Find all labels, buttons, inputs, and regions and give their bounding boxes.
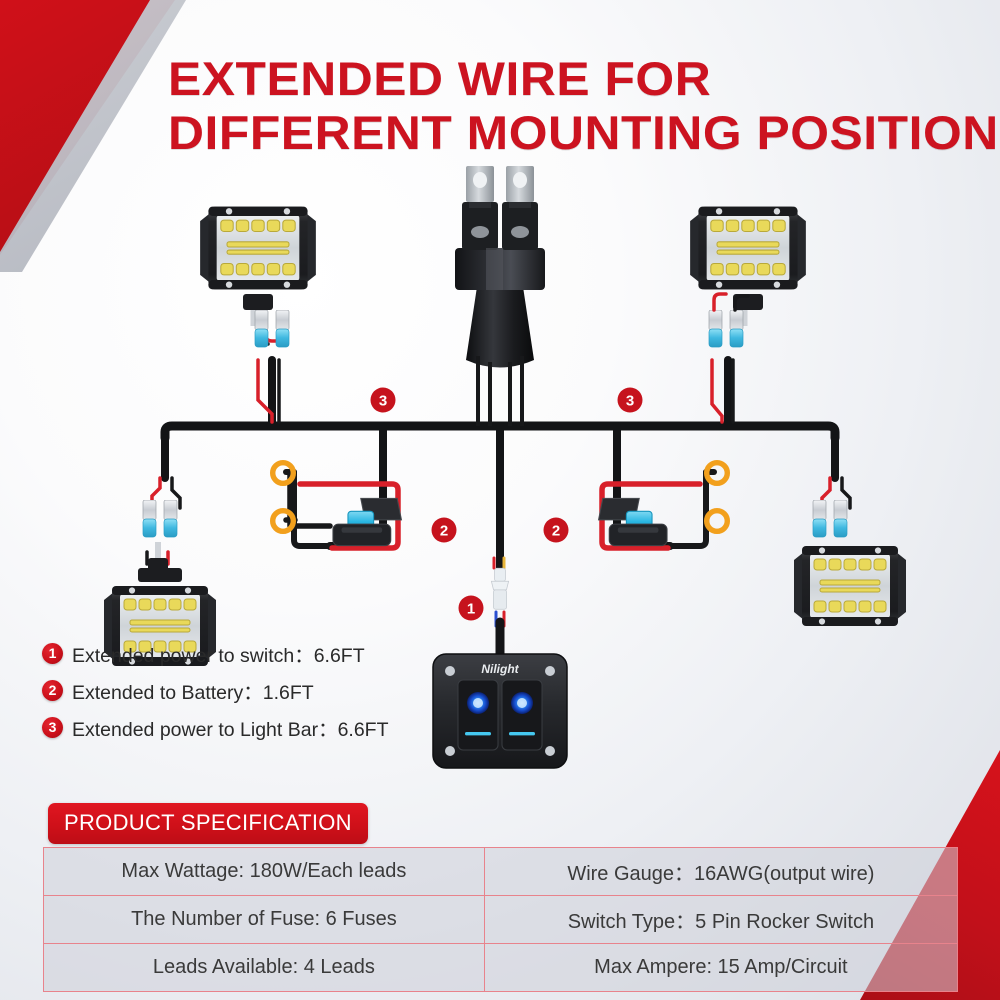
harness-trunk	[466, 280, 534, 368]
svg-text:3: 3	[626, 393, 634, 410]
product-specification-table: Max Wattage: 180W/Each leads Wire Gauge：…	[43, 847, 958, 992]
svg-text:3: 3	[379, 393, 387, 410]
callout-1-switch-lead: 1	[459, 596, 484, 621]
waterproof-connector	[491, 568, 508, 609]
spec-cell-switch-type: Switch Type：5 Pin Rocker Switch	[484, 896, 957, 944]
callout-2-battery-right: 2	[544, 518, 569, 543]
callout-3-lightbar-left: 3	[371, 388, 396, 413]
product-specification-title: PRODUCT SPECIFICATION	[48, 803, 368, 844]
blue-spade-connector-top-right	[709, 310, 743, 347]
dual-relay-block	[455, 166, 545, 290]
page-title-line-2: DIFFERENT MOUNTING POSITION	[168, 106, 1000, 160]
spec-row-1: Max Wattage: 180W/Each leads Wire Gauge：…	[44, 848, 958, 896]
svg-text:1: 1	[467, 601, 475, 618]
spec-cell-max-wattage: Max Wattage: 180W/Each leads	[44, 848, 485, 896]
svg-text:2: 2	[440, 523, 448, 540]
page-title-line-1: EXTENDED WIRE FOR	[168, 52, 1000, 106]
spec-row-3: Leads Available: 4 Leads Max Ampere: 15 …	[44, 944, 958, 992]
page-title: EXTENDED WIRE FOR DIFFERENT MOUNTING POS…	[168, 52, 1000, 160]
legend-label-2: Extended to Battery：1.6FT	[72, 676, 314, 705]
led-light-pod-top-right	[690, 207, 806, 326]
legend-item-1: 1 Extended power to switch：6.6FT	[42, 640, 472, 666]
ring-terminal-right-positive	[707, 511, 728, 532]
infographic-page: EXTENDED WIRE FOR DIFFERENT MOUNTING POS…	[0, 0, 1000, 1000]
inline-fuse-holder-right	[599, 498, 667, 545]
led-light-pod-top-left	[200, 207, 316, 326]
legend-badge-2: 2	[42, 680, 63, 701]
callout-3-lightbar-right: 3	[618, 388, 643, 413]
spec-cell-fuse-count: The Number of Fuse: 6 Fuses	[44, 896, 485, 944]
callout-2-battery-left: 2	[432, 518, 457, 543]
blue-spade-connector-bottom-left	[143, 500, 177, 537]
blue-spade-connector-bottom-right	[813, 500, 847, 537]
spec-row-2: The Number of Fuse: 6 Fuses Switch Type：…	[44, 896, 958, 944]
legend-item-2: 2 Extended to Battery：1.6FT	[42, 677, 472, 703]
spec-cell-max-ampere: Max Ampere: 15 Amp/Circuit	[484, 944, 957, 992]
legend-badge-1: 1	[42, 643, 63, 664]
spec-cell-wire-gauge: Wire Gauge：16AWG(output wire)	[484, 848, 957, 896]
legend-label-1: Extended power to switch：6.6FT	[72, 639, 365, 668]
legend-label-3: Extended power to Light Bar：6.6FT	[72, 713, 389, 742]
legend-list: 1 Extended power to switch：6.6FT 2 Exten…	[42, 640, 472, 751]
inline-fuse-holder-left	[333, 498, 401, 545]
panel-brand-label: Nilight	[481, 662, 519, 676]
led-light-pod-bottom-right	[794, 546, 906, 626]
svg-text:2: 2	[552, 523, 560, 540]
legend-badge-3: 3	[42, 717, 63, 738]
spec-cell-leads: Leads Available: 4 Leads	[44, 944, 485, 992]
legend-item-3: 3 Extended power to Light Bar：6.6FT	[42, 714, 472, 740]
